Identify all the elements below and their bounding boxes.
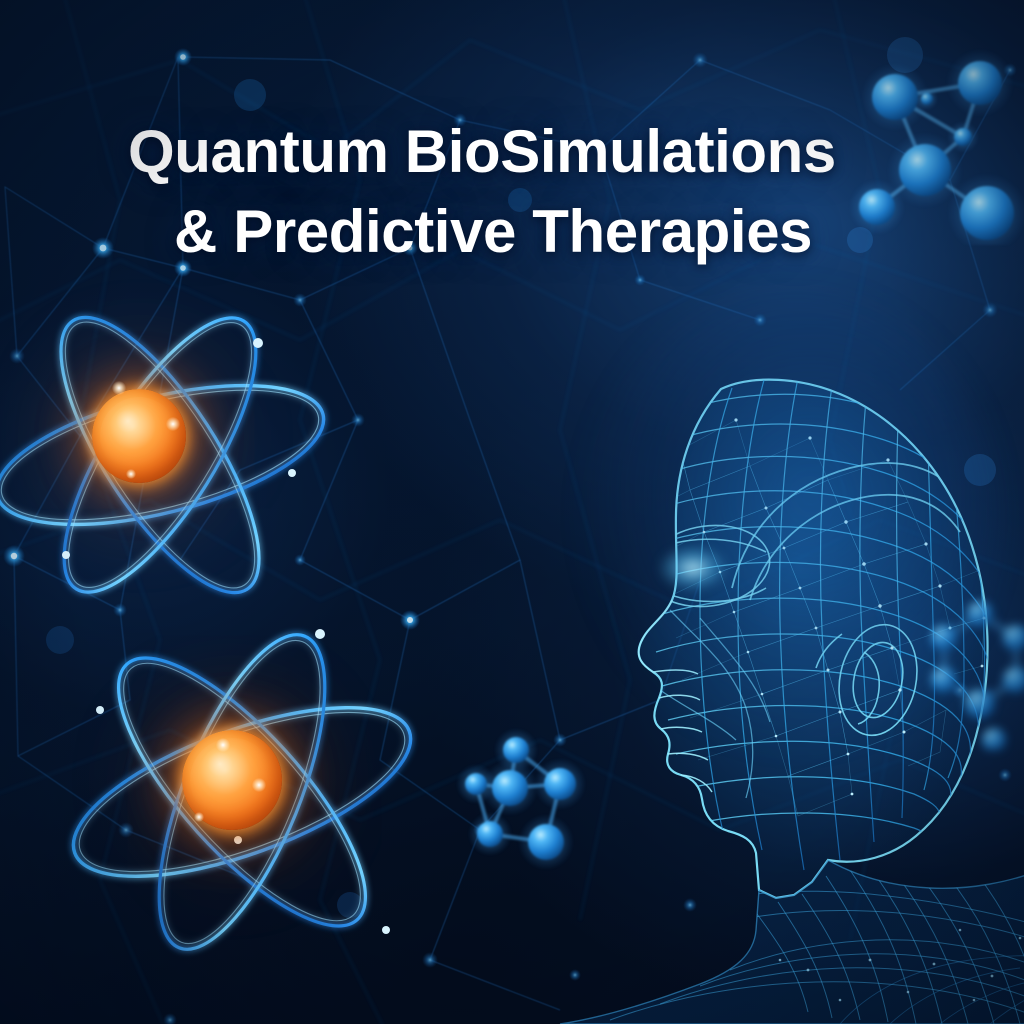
nucleus-spark-f (194, 812, 204, 822)
molecule-center-svg (448, 726, 608, 876)
title-line-2: & Predictive Therapies (128, 192, 928, 272)
nucleus-spark-b (166, 417, 180, 431)
title-line-1: Quantum BioSimulations (128, 112, 928, 192)
nucleus-spark-e (252, 778, 266, 792)
poster-canvas: Quantum BioSimulations & Predictive Ther… (0, 0, 1024, 1024)
atom-lower (52, 612, 432, 972)
poster-title: Quantum BioSimulations & Predictive Ther… (128, 112, 928, 272)
molecule-right-edge-svg (928, 600, 1024, 750)
nucleus-spark-a (112, 381, 126, 395)
molecule-center (448, 726, 608, 876)
atom-upper (0, 285, 340, 625)
nucleus-spark-d (216, 738, 230, 752)
molecule-atoms (931, 601, 1024, 750)
molecule-right-edge (928, 600, 1024, 750)
eye-glow-highlight (658, 545, 728, 591)
atom-upper-nucleus (92, 389, 186, 483)
nucleus-spark-c (126, 469, 136, 479)
molecule-atoms (456, 728, 586, 870)
